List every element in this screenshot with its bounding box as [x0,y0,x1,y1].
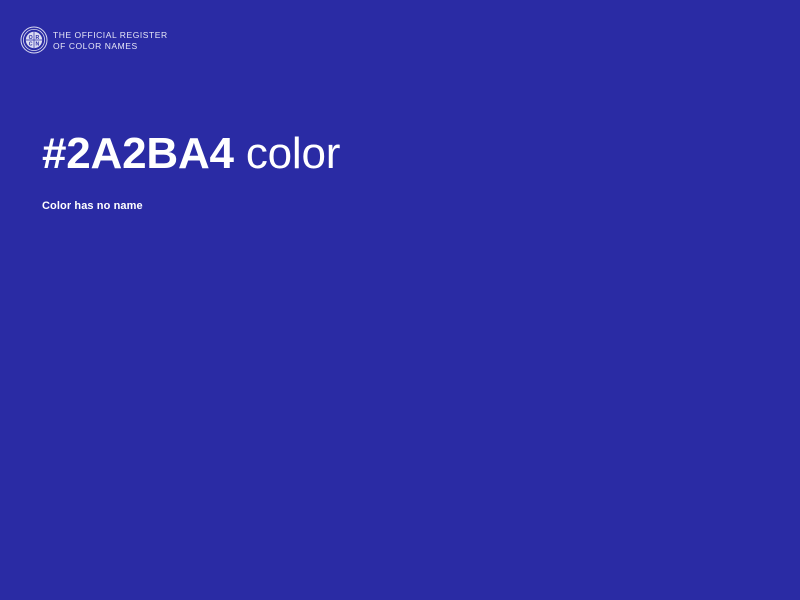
color-name-status: Color has no name [42,180,742,213]
color-page: O R C N THE OFFICIAL REGISTER OF COLOR N… [0,0,800,600]
brand-title-line-2: OF COLOR NAMES [53,41,168,52]
register-seal-icon: O R C N [20,26,48,54]
brand-title-line-1: THE OFFICIAL REGISTER [53,30,168,41]
svg-text:N: N [36,41,40,47]
svg-text:C: C [29,41,33,47]
page-title-suffix: color [246,129,340,178]
site-brand[interactable]: O R C N THE OFFICIAL REGISTER OF COLOR N… [20,26,168,54]
page-title: #2A2BA4 color [42,128,742,180]
color-hex-value: #2A2BA4 [42,129,234,178]
color-info: #2A2BA4 color Color has no name [42,128,742,213]
brand-title: THE OFFICIAL REGISTER OF COLOR NAMES [53,29,168,51]
